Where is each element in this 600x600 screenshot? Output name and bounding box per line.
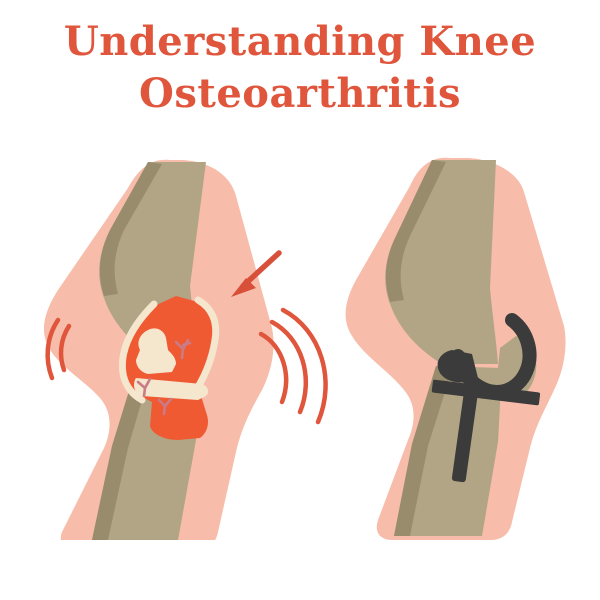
illustration-area <box>0 140 600 600</box>
pain-arc-right-2 <box>272 322 306 412</box>
title-line-1: Understanding Knee <box>0 16 600 68</box>
page-title: Understanding Knee Osteoarthritis <box>0 16 600 120</box>
figure-knee-replacement <box>330 140 600 540</box>
title-line-2: Osteoarthritis <box>0 68 600 120</box>
figure-osteoarthritic-knee <box>0 140 340 540</box>
poster-canvas: Understanding Knee Osteoarthritis <box>0 0 600 600</box>
